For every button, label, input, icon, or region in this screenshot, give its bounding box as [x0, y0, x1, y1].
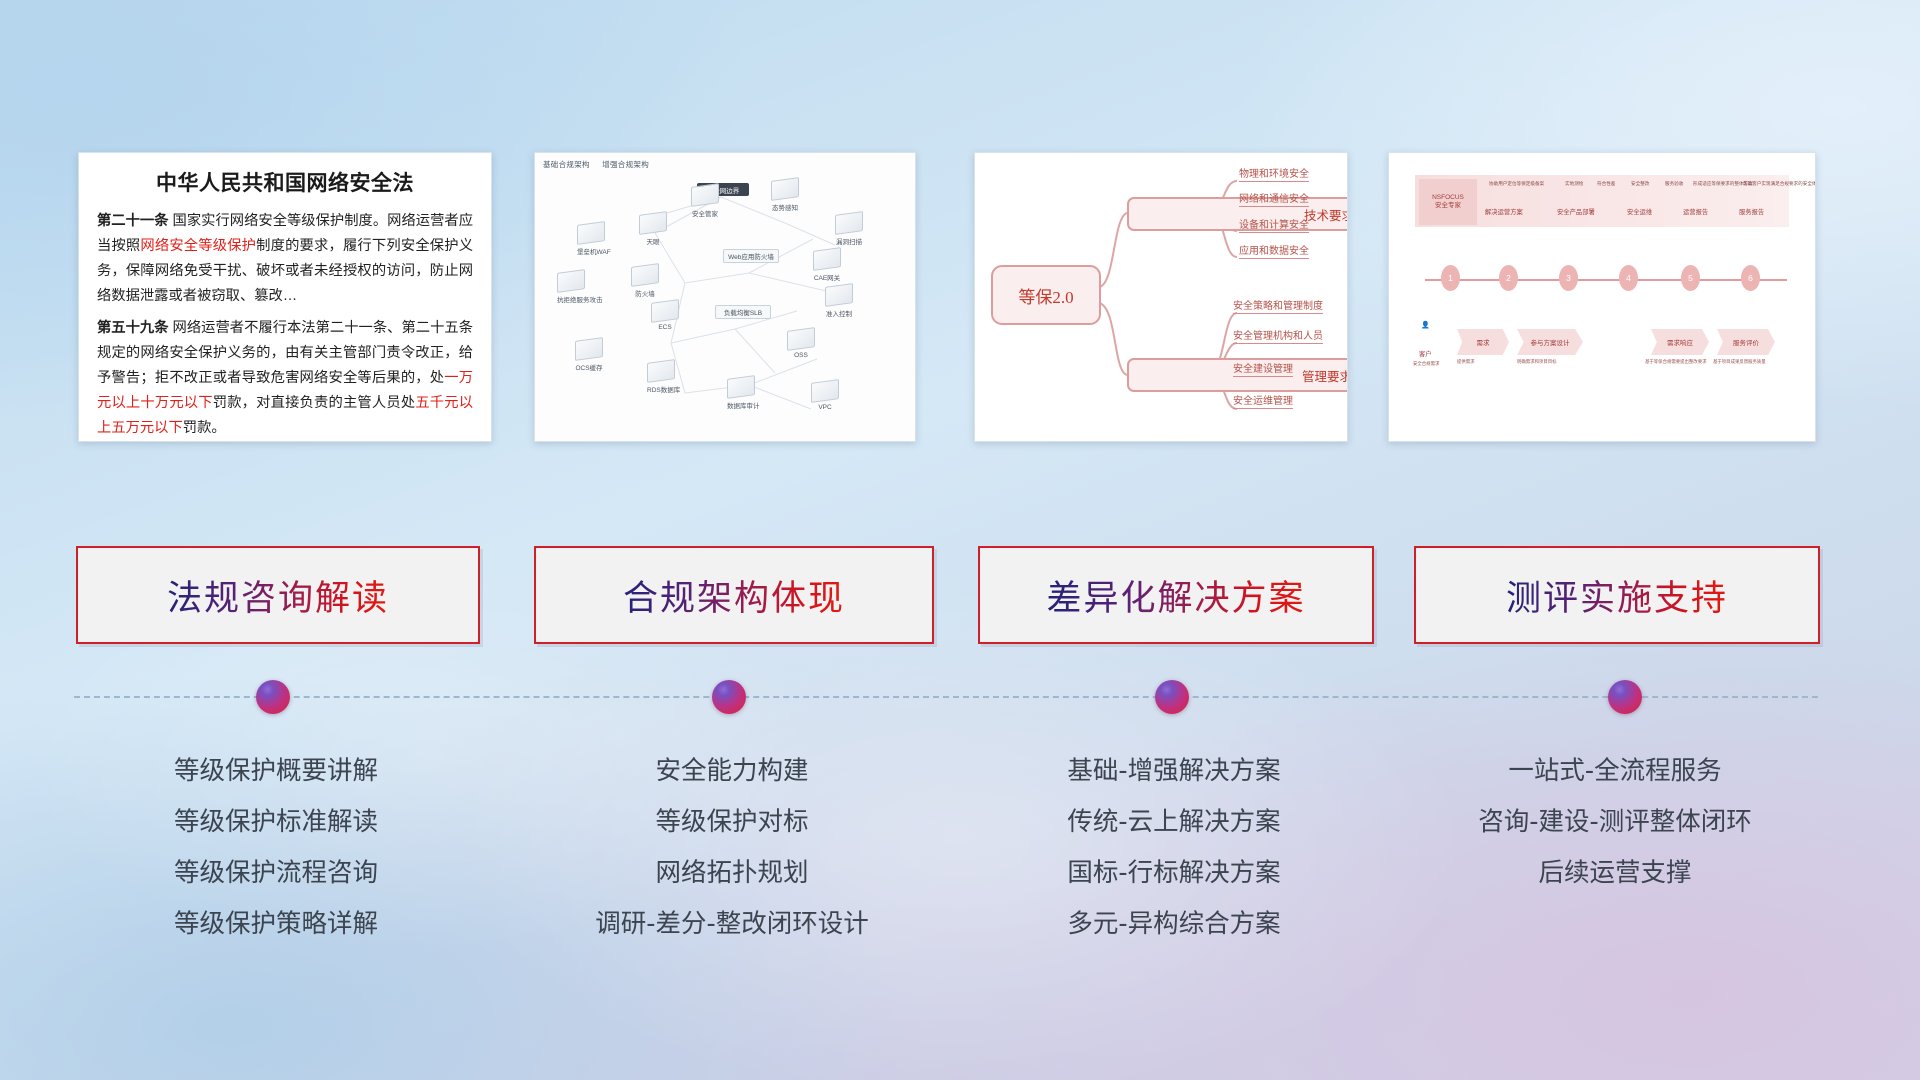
architecture-node-1: 安全管家	[691, 185, 719, 218]
list-item: 基础-增强解决方案	[978, 746, 1370, 797]
roadmap-cell-4: 服务报告	[1739, 207, 1764, 216]
thumbnail-card-architecture[interactable]: 基础合规架构 增强合规架构 互联网边界 天眼 安全管家	[534, 152, 916, 442]
mindmap-leaf-tech-2: 设备和计算安全	[1239, 216, 1309, 233]
list-item: 等级保护策略详解	[76, 899, 476, 950]
roadmap-top-label-6: 帮助客户实现满足合规要求的安全体系	[1743, 181, 1816, 187]
mindmap-leaf-tech-3: 应用和数据安全	[1239, 242, 1309, 259]
list-column-2: 安全能力构建 等级保护对标 网络拓扑规划 调研-差分-整改闭环设计	[534, 746, 930, 950]
thumbnail-card-law[interactable]: 中华人民共和国网络安全法 第二十一条 国家实行网络安全等级保护制度。网络运营者应…	[78, 152, 492, 442]
roadmap-bottom-cell-2: 需求响应	[1651, 329, 1709, 355]
roadmap-top-label-4: 服务验收	[1665, 181, 1683, 187]
list-item: 调研-差分-整改闭环设计	[534, 899, 930, 950]
architecture-diagram: 基础合规架构 增强合规架构 互联网边界 天眼 安全管家	[535, 153, 915, 441]
law-article-59-text-mid: 罚款，对直接负责的主管人员处	[213, 395, 416, 411]
architecture-node-2: 态势感知	[771, 179, 799, 212]
banner-compliance-architecture[interactable]: 合规架构体现	[534, 546, 934, 644]
roadmap-actor-sub: 安全合规需求	[1413, 361, 1439, 367]
list-item: 咨询-建设-测评整体闭环	[1414, 797, 1816, 848]
roadmap-logo-line2: 安全专家	[1435, 202, 1461, 210]
list-item: 等级保护对标	[534, 797, 930, 848]
timeline-node-1[interactable]	[256, 680, 290, 714]
architecture-node-7: Web应用防火墙	[723, 249, 779, 263]
mindmap-leaf-mgmt-3: 安全运维管理	[1233, 392, 1293, 409]
list-item: 国标-行标解决方案	[978, 848, 1370, 899]
law-article-21-label: 第二十一条	[97, 213, 169, 229]
roadmap-timeline-line	[1425, 279, 1787, 281]
law-card-paragraph-2: 第五十九条 网络运营者不履行本法第二十一条、第二十五条规定的网络安全保护义务的，…	[97, 316, 473, 441]
roadmap-top-label-2: 符合性差	[1597, 181, 1615, 187]
roadmap-bottom-cell-0: 需求	[1457, 329, 1509, 355]
list-column-3: 基础-增强解决方案 传统-云上解决方案 国标-行标解决方案 多元-异构综合方案	[978, 746, 1370, 950]
roadmap-bottom-cell-3: 服务评价	[1717, 329, 1775, 355]
mindmap-leaf-mgmt-0: 安全策略和管理制度	[1233, 297, 1323, 314]
roadmap-step-5: 5	[1681, 265, 1700, 291]
roadmap-logo-line1: NSFOCUS	[1432, 194, 1464, 202]
roadmap-bottom-cell-1: 参与方案设计	[1517, 329, 1583, 355]
list-item: 后续运营支撑	[1414, 848, 1816, 899]
mindmap-leaf-mgmt-2: 安全建设管理	[1233, 360, 1293, 377]
thumbnail-card-mindmap[interactable]: 等保2.0 技术要求 物理和环境安全 网络和通信安全 设备和计算安全 应用和数据…	[974, 152, 1348, 442]
roadmap-step-3: 3	[1559, 265, 1578, 291]
law-card-paragraph-1: 第二十一条 国家实行网络安全等级保护制度。网络运营者应当按照网络安全等级保护制度…	[97, 209, 473, 309]
thumbnail-row: 中华人民共和国网络安全法 第二十一条 国家实行网络安全等级保护制度。网络运营者应…	[0, 152, 1920, 442]
mindmap-branch-technical: 技术要求	[1127, 197, 1348, 231]
law-card-body: 中华人民共和国网络安全法 第二十一条 国家实行网络安全等级保护制度。网络运营者应…	[79, 153, 491, 441]
list-item: 等级保护概要讲解	[76, 746, 476, 797]
roadmap-step-2: 2	[1499, 265, 1518, 291]
banner-differentiated-solution[interactable]: 差异化解决方案	[978, 546, 1374, 644]
architecture-node-5: 抗拒绝服务攻击	[557, 271, 603, 304]
roadmap-diagram: NSFOCUS 安全专家 协助用户定位等保定级备案 实地测绘 符合性差 安全整改…	[1389, 153, 1815, 441]
list-column-4: 一站式-全流程服务 咨询-建设-测评整体闭环 后续运营支撑	[1414, 746, 1816, 899]
banner-label-0: 法规咨询解读	[167, 570, 389, 621]
list-item: 等级保护标准解读	[76, 797, 476, 848]
law-article-59-text-end: 罚款。	[183, 420, 226, 436]
architecture-node-4: 堡垒机WAF	[577, 223, 611, 256]
roadmap-step-4: 4	[1619, 265, 1638, 291]
list-item: 等级保护流程咨询	[76, 848, 476, 899]
banner-label-3: 测评实施支持	[1506, 570, 1728, 621]
roadmap-top-label-1: 实地测绘	[1565, 181, 1583, 187]
roadmap-logo: NSFOCUS 安全专家	[1419, 179, 1477, 225]
list-item: 多元-异构综合方案	[978, 899, 1370, 950]
mindmap-leaf-mgmt-1: 安全管理机构和人员	[1233, 327, 1323, 344]
timeline-node-3[interactable]	[1155, 680, 1189, 714]
architecture-node-12: OSS	[787, 329, 815, 359]
roadmap-step-6: 6	[1741, 265, 1760, 291]
timeline-node-4[interactable]	[1608, 680, 1642, 714]
law-article-59-label: 第五十九条	[97, 320, 169, 336]
architecture-node-15: 数据库审计	[727, 377, 760, 410]
architecture-node-0: 天眼	[639, 213, 667, 246]
mindmap-leaf-tech-0: 物理和环境安全	[1239, 165, 1309, 182]
architecture-node-8: CAE网关	[813, 249, 841, 282]
mindmap-diagram: 等保2.0 技术要求 物理和环境安全 网络和通信安全 设备和计算安全 应用和数据…	[975, 153, 1347, 441]
roadmap-bottom-sub-0: 提供需求	[1457, 359, 1475, 365]
architecture-node-6: 防火墙	[631, 265, 659, 298]
banner-evaluation-support[interactable]: 测评实施支持	[1414, 546, 1820, 644]
timeline-dashed-line	[74, 696, 1818, 698]
architecture-node-16: VPC	[811, 381, 839, 411]
roadmap-actor-label: 客户	[1419, 349, 1432, 358]
roadmap-cell-0: 解决运营方案	[1485, 207, 1523, 216]
roadmap-cell-2: 安全运维	[1627, 207, 1652, 216]
roadmap-bottom-sub-1: 明确需求和项目目标	[1517, 359, 1557, 365]
thumbnail-card-roadmap[interactable]: NSFOCUS 安全专家 协助用户定位等保定级备案 实地测绘 符合性差 安全整改…	[1388, 152, 1816, 442]
roadmap-cell-1: 安全产品部署	[1557, 207, 1595, 216]
roadmap-cell-3: 运营报告	[1683, 207, 1708, 216]
architecture-node-14: RDS数据库	[647, 361, 680, 394]
banner-label-2: 差异化解决方案	[1046, 570, 1305, 621]
list-column-1: 等级保护概要讲解 等级保护标准解读 等级保护流程咨询 等级保护策略详解	[76, 746, 476, 950]
list-item: 一站式-全流程服务	[1414, 746, 1816, 797]
banner-regulation-consulting[interactable]: 法规咨询解读	[76, 546, 480, 644]
architecture-node-3: 漏洞扫描	[835, 213, 863, 246]
list-item: 传统-云上解决方案	[978, 797, 1370, 848]
list-item: 网络拓扑规划	[534, 848, 930, 899]
roadmap-bottom-sub-2: 基于等保合规需要提出整改要求	[1645, 359, 1706, 365]
mindmap-leaf-tech-1: 网络和通信安全	[1239, 190, 1309, 207]
roadmap-step-1: 1	[1441, 265, 1460, 291]
roadmap-top-label-0: 协助用户定位等保定级备案	[1489, 181, 1544, 187]
roadmap-top-label-3: 安全整改	[1631, 181, 1649, 187]
architecture-node-10: ECS	[651, 301, 679, 331]
law-article-21-highlight: 网络安全等级保护	[140, 238, 256, 254]
timeline-node-2[interactable]	[712, 680, 746, 714]
list-item: 安全能力构建	[534, 746, 930, 797]
roadmap-actor-icon: 👤	[1421, 321, 1430, 329]
architecture-node-11: 负载均衡SLB	[715, 305, 771, 319]
architecture-node-13: OCS缓存	[575, 339, 603, 372]
banner-label-1: 合规架构体现	[623, 570, 845, 621]
law-card-title: 中华人民共和国网络安全法	[97, 167, 473, 197]
architecture-node-9: 准入控制	[825, 285, 853, 318]
mindmap-root-node: 等保2.0	[991, 265, 1101, 325]
roadmap-bottom-sub-3: 基于项目成果反馈服务质量	[1713, 359, 1766, 365]
